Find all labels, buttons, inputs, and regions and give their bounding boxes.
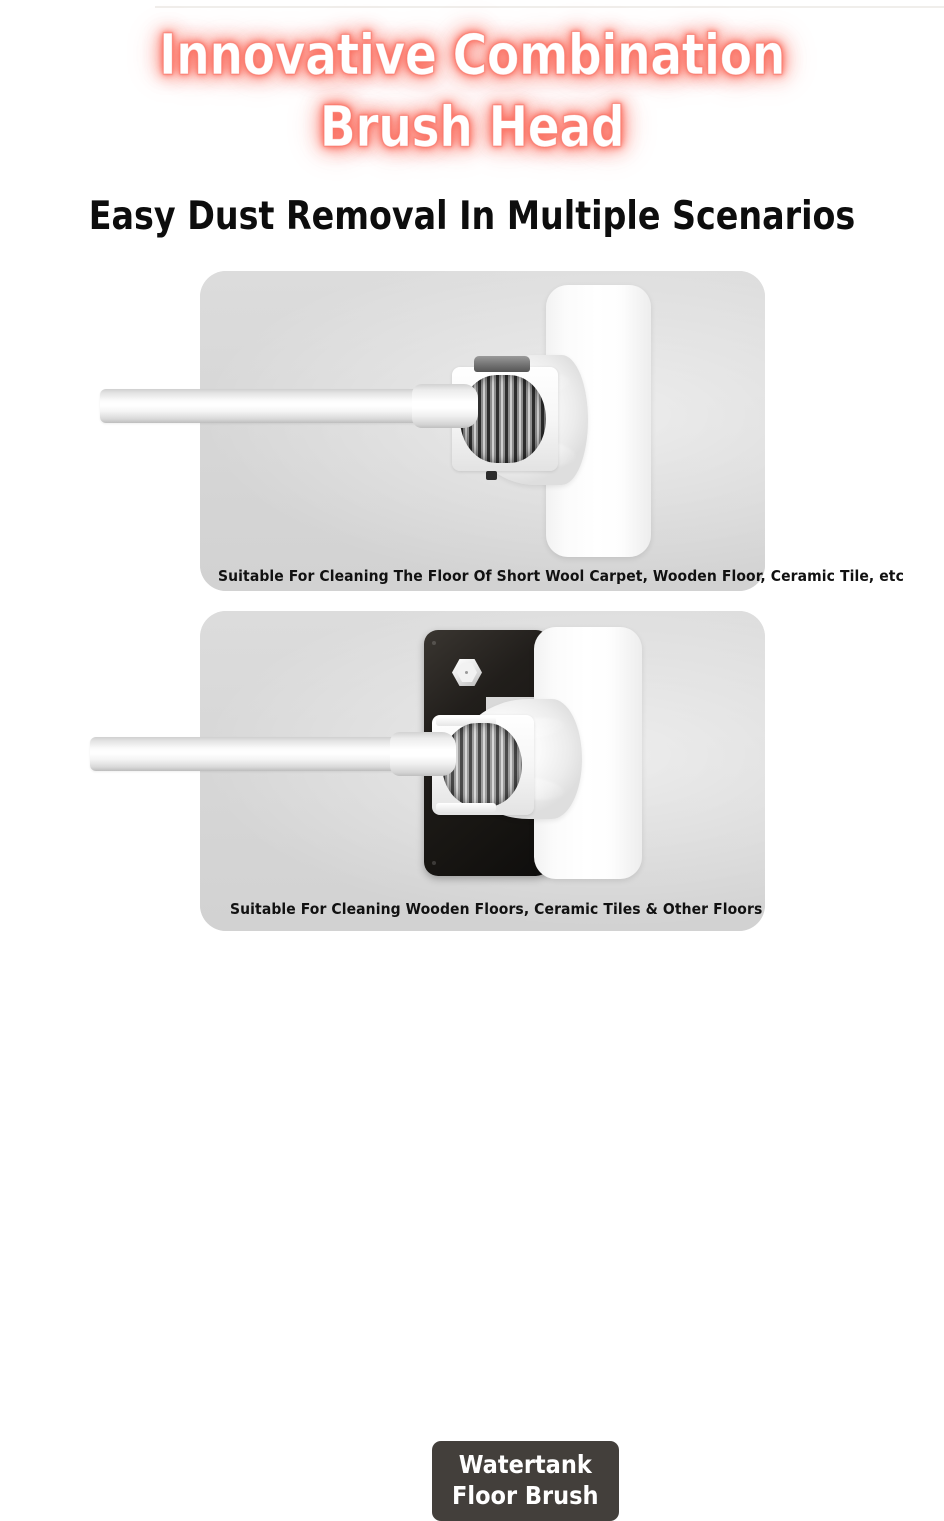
- page-title: Innovative Combination Brush Head: [28, 20, 915, 164]
- wand-collar-icon: [412, 384, 478, 428]
- badge-watertank-floor-brush: Watertank Floor Brush: [432, 1441, 619, 1521]
- caption-watertank-floor-brush: Suitable For Cleaning Wooden Floors, Cer…: [230, 899, 762, 919]
- extension-wand-icon: [90, 737, 408, 771]
- page-title-line-1: Innovative Combination: [159, 23, 785, 88]
- page-title-line-2: Brush Head: [28, 92, 915, 164]
- caption-scrubbing-brush: Suitable For Cleaning The Floor Of Short…: [218, 566, 904, 586]
- joint-lip-icon: [436, 803, 496, 812]
- screw-icon: [432, 861, 436, 865]
- screw-icon: [432, 641, 436, 645]
- top-divider: [155, 6, 944, 8]
- release-tab-icon: [474, 356, 530, 372]
- feature-card-watertank-floor-brush: Watertank Floor Brush: [200, 611, 765, 931]
- badge-label-line-2: Floor Brush: [452, 1480, 599, 1511]
- hex-cap-center-icon: [465, 671, 468, 674]
- card-image-area: [200, 271, 765, 591]
- card-image-area: [200, 611, 765, 931]
- extension-wand-icon: [100, 389, 430, 423]
- page-subtitle: Easy Dust Removal In Multiple Scenarios: [24, 192, 921, 242]
- wand-collar-icon: [390, 732, 456, 776]
- product-feature-page: Innovative Combination Brush Head Easy D…: [0, 0, 944, 944]
- latch-nub-icon: [486, 471, 497, 480]
- badge-label-line-1: Watertank: [452, 1449, 599, 1480]
- feature-card-scrubbing-brush: Scrubbing Brush: [200, 271, 765, 591]
